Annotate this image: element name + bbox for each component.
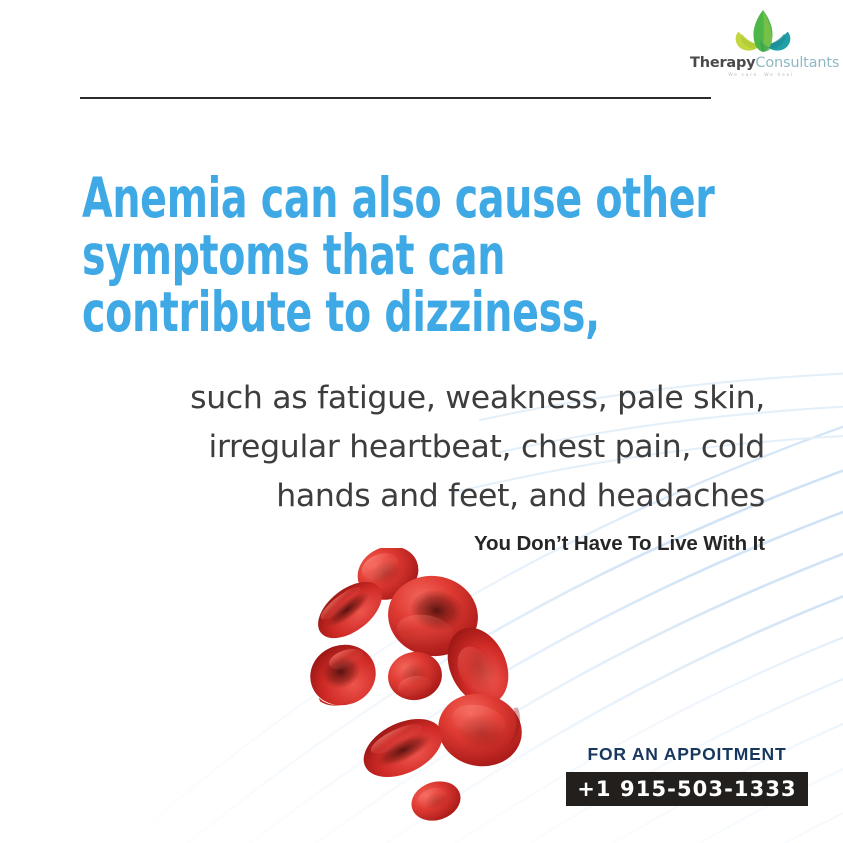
appointment-label: FOR AN APPOITMENT (566, 744, 808, 765)
blood-cell (431, 686, 528, 774)
brand-name-part1: Therapy (690, 55, 755, 71)
brand-tagline: We care. We heal. (690, 73, 835, 78)
blood-cell (354, 707, 451, 789)
red-blood-cells-illustration (288, 548, 554, 838)
brand-logo: TherapyConsultants We care. We heal. (690, 8, 835, 88)
body-paragraph: such as fatigue, weakness, pale skin, ir… (150, 374, 765, 521)
three-leaf-icon (730, 8, 796, 54)
brand-wordmark: TherapyConsultants (690, 55, 835, 71)
body-line-3: hands and feet, and headaches (150, 472, 765, 521)
blood-cell (406, 775, 465, 827)
headline: Anemia can also cause other symptoms tha… (82, 170, 722, 341)
poster-canvas: TherapyConsultants We care. We heal. Ane… (0, 0, 843, 843)
body-line-2: irregular heartbeat, chest pain, cold (150, 423, 765, 472)
appointment-block: FOR AN APPOITMENT +1 915-503-1333 (566, 744, 808, 806)
body-line-1: such as fatigue, weakness, pale skin, (150, 374, 765, 423)
blood-cell (302, 636, 383, 713)
phone-number-button[interactable]: +1 915-503-1333 (566, 772, 808, 806)
header-divider-rule (80, 97, 711, 99)
phone-number-text: +1 915-503-1333 (577, 777, 797, 801)
brand-name-part2: Consultants (755, 55, 839, 71)
blood-cell (384, 648, 446, 705)
